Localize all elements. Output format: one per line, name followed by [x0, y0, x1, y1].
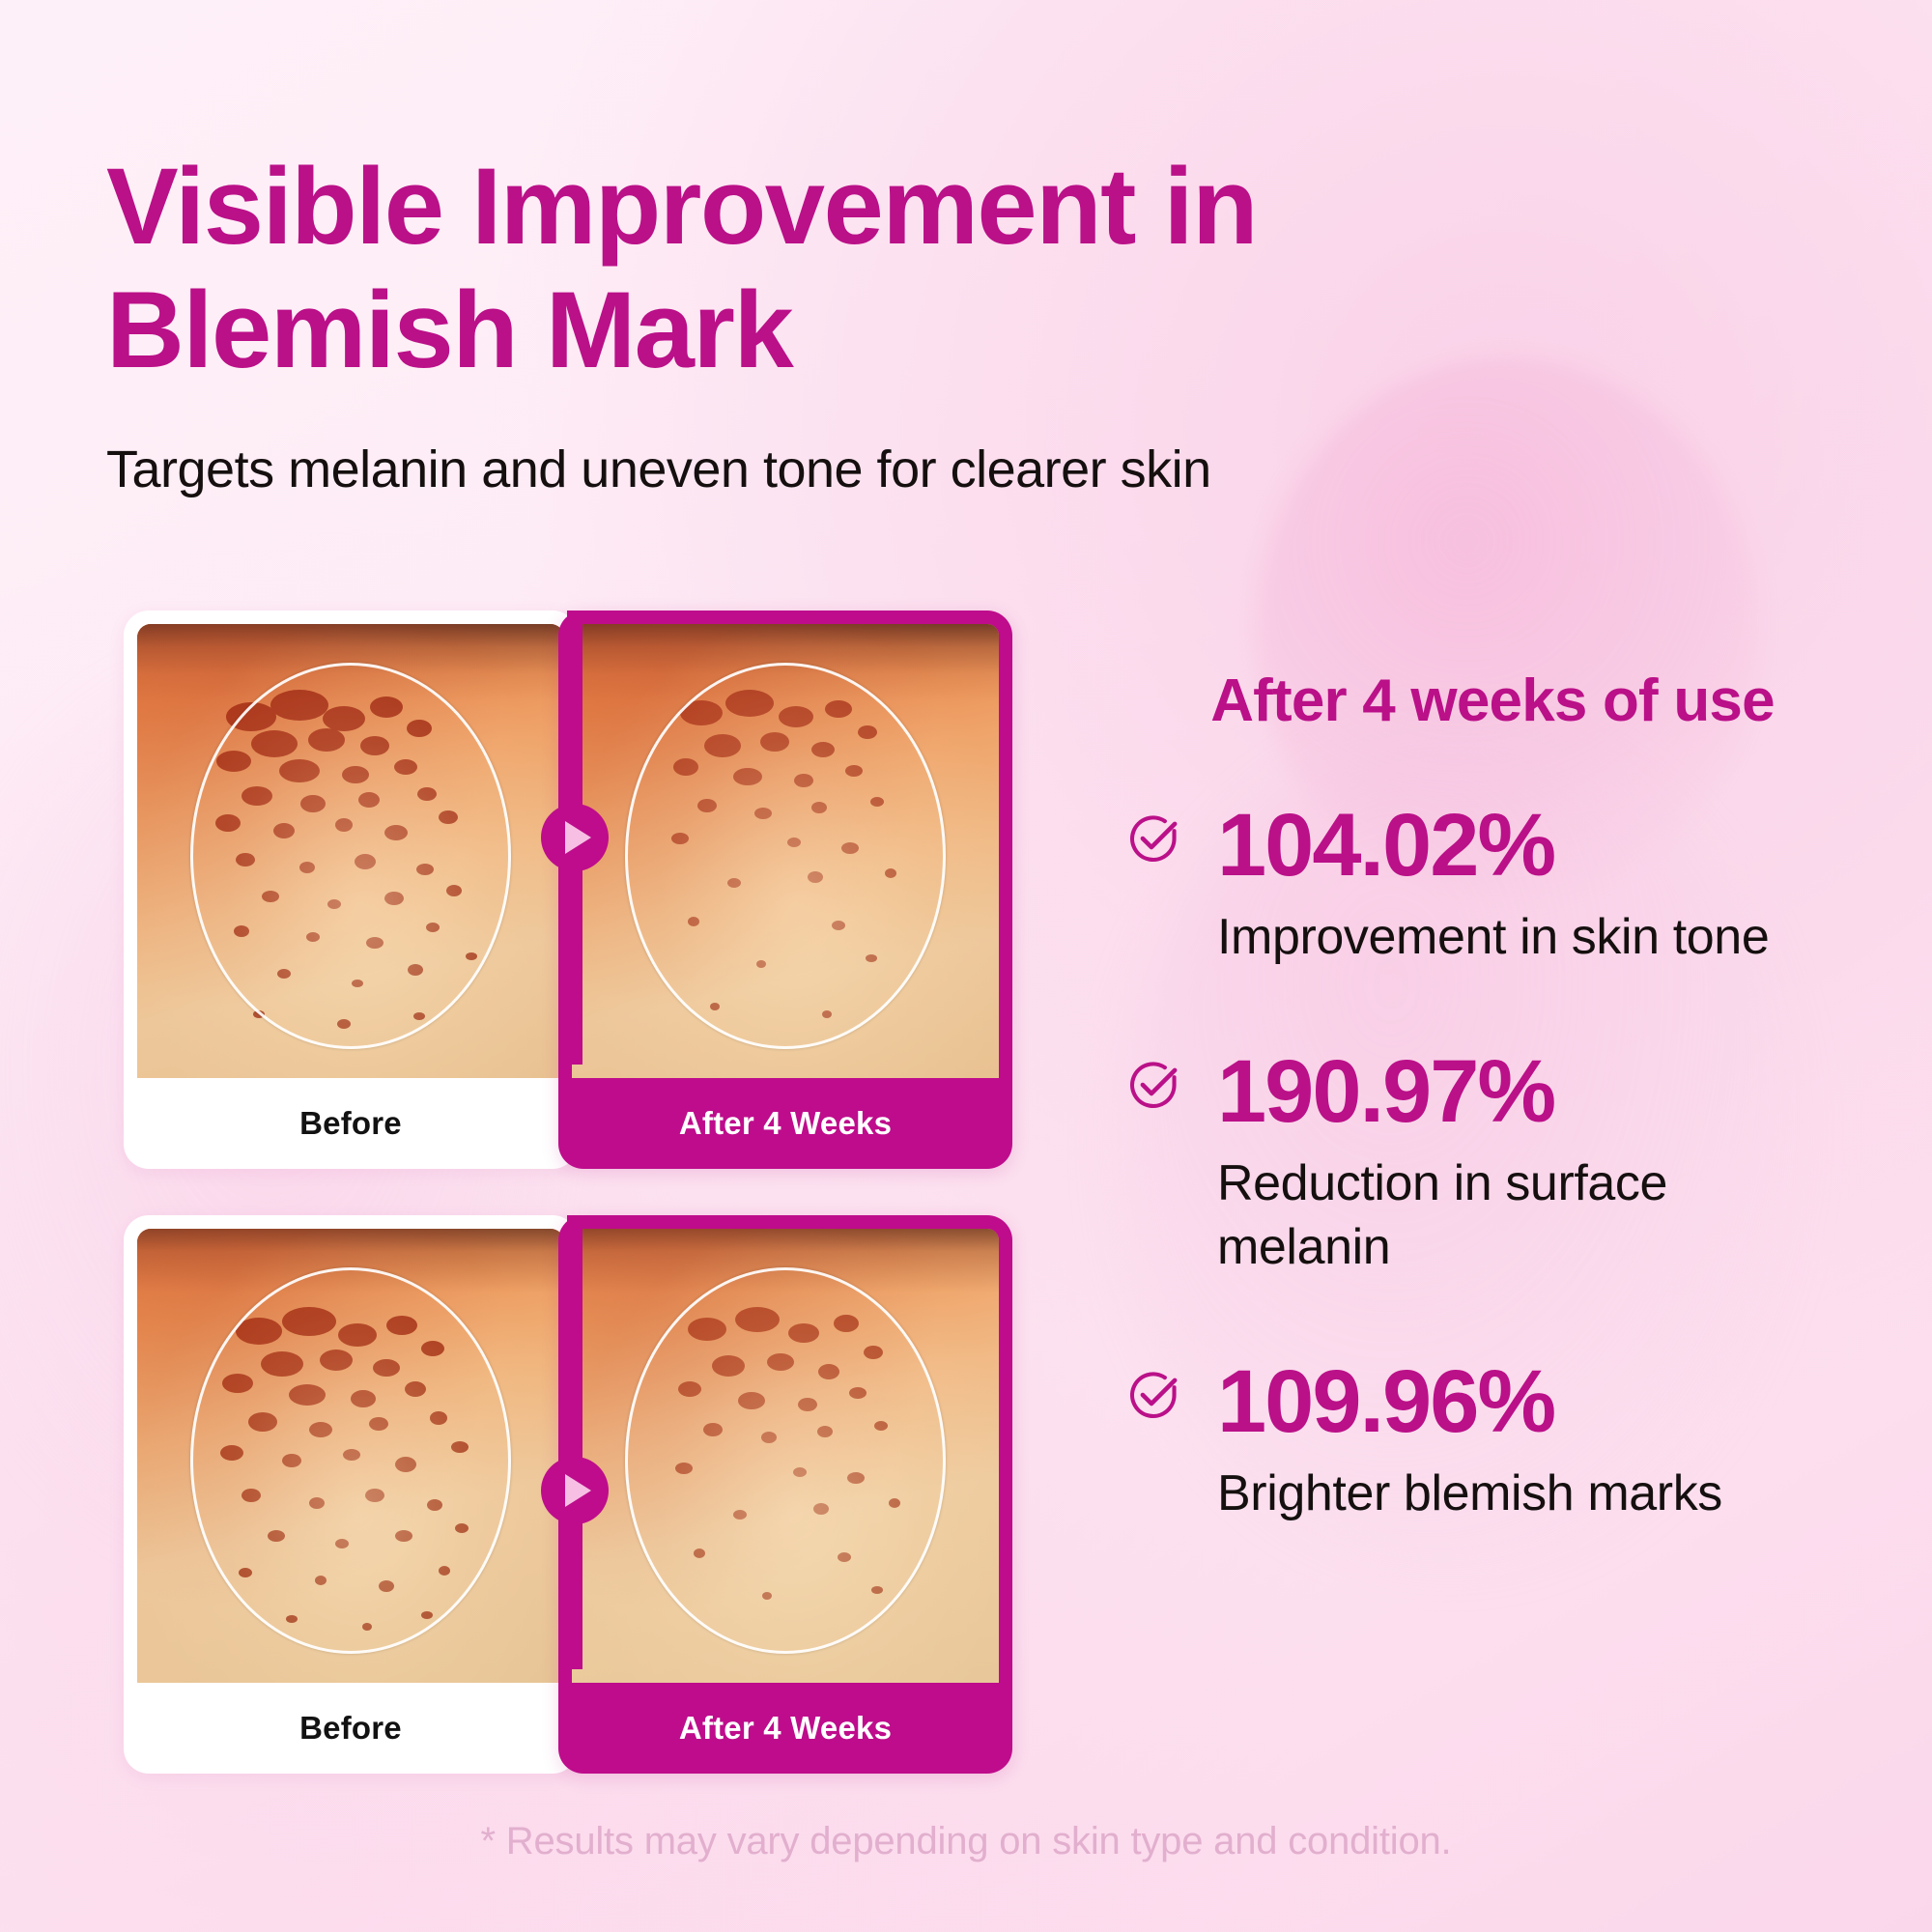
after-photo: [572, 624, 999, 1078]
before-caption: Before: [137, 1078, 564, 1169]
stat-label: Improvement in skin tone: [1217, 905, 1816, 970]
page-subtitle: Targets melanin and uneven tone for clea…: [106, 438, 1555, 503]
comparison-row: Before: [124, 611, 1032, 1169]
before-photo: [137, 624, 564, 1078]
disclaimer-text: * Results may vary depending on skin typ…: [0, 1820, 1932, 1863]
play-arrow-icon[interactable]: [541, 804, 609, 871]
after-card[interactable]: After 4 Weeks: [558, 611, 1012, 1169]
play-arrow-triangle: [565, 1474, 591, 1507]
stat-value: 104.02%: [1217, 801, 1893, 890]
comparison-area: Before: [124, 611, 1032, 1774]
headline-line-1: Visible Improvement in: [106, 146, 1257, 267]
stat-item: 109.96% Brighter blemish marks: [1121, 1357, 1893, 1526]
after-caption: After 4 Weeks: [572, 1078, 999, 1169]
stats-panel: After 4 weeks of use 104.02% Improvement…: [1121, 667, 1893, 1525]
after-photo: [572, 1229, 999, 1683]
play-arrow-triangle: [565, 821, 591, 854]
comparison-row: Before: [124, 1215, 1032, 1774]
before-photo: [137, 1229, 564, 1683]
melanin-spots: [137, 1229, 564, 1683]
check-circle-icon: [1126, 810, 1182, 867]
stat-item: 190.97% Reduction in surface melanin: [1121, 1047, 1893, 1280]
stat-value: 190.97%: [1217, 1047, 1893, 1136]
page-title: Visible Improvement in Blemish Mark: [106, 145, 1555, 391]
play-arrow-icon[interactable]: [541, 1457, 609, 1524]
before-caption: Before: [137, 1683, 564, 1774]
header-block: Visible Improvement in Blemish Mark Targ…: [106, 145, 1555, 503]
check-circle-icon: [1126, 1367, 1182, 1423]
infographic-page: Visible Improvement in Blemish Mark Targ…: [0, 0, 1932, 1932]
before-card[interactable]: Before: [124, 1215, 578, 1774]
stat-label: Brighter blemish marks: [1217, 1462, 1816, 1526]
before-card[interactable]: Before: [124, 611, 578, 1169]
headline-line-2: Blemish Mark: [106, 270, 792, 390]
after-card[interactable]: After 4 Weeks: [558, 1215, 1012, 1774]
stats-title: After 4 weeks of use: [1121, 667, 1864, 735]
check-circle-icon: [1126, 1057, 1182, 1113]
stat-label: Reduction in surface melanin: [1217, 1151, 1816, 1280]
stat-value: 109.96%: [1217, 1357, 1893, 1446]
comparison-connector-bar: [567, 1215, 582, 1669]
melanin-spots: [572, 1229, 999, 1683]
melanin-spots: [572, 624, 999, 1078]
stat-item: 104.02% Improvement in skin tone: [1121, 801, 1893, 970]
after-caption: After 4 Weeks: [572, 1683, 999, 1774]
melanin-spots: [137, 624, 564, 1078]
